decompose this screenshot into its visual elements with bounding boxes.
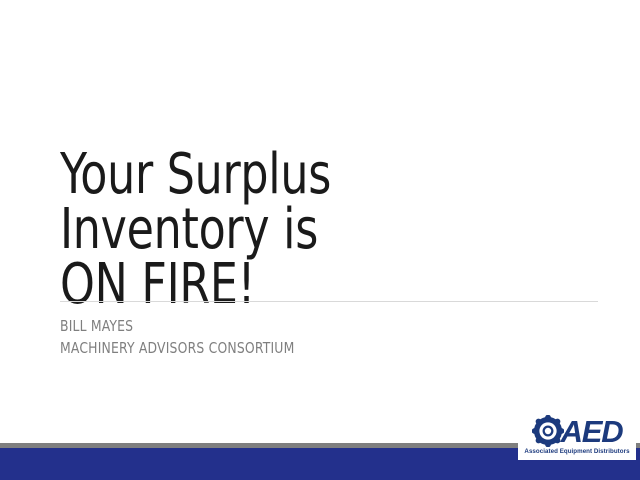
aed-logo-main: AED <box>532 414 623 448</box>
presentation-slide: Your Surplus Inventory is ON FIRE! BILL … <box>0 0 640 480</box>
presenter-organization: MACHINERY ADVISORS CONSORTIUM <box>60 338 294 360</box>
subtitle-block: BILL MAYES MACHINERY ADVISORS CONSORTIUM <box>60 316 315 360</box>
title-divider <box>60 301 598 302</box>
aed-wordmark: AED <box>561 416 623 447</box>
title-block: Your Surplus Inventory is ON FIRE! <box>60 148 605 313</box>
aed-logo: AED Associated Equipment Distributors <box>518 414 636 460</box>
aed-tagline: Associated Equipment Distributors <box>524 449 629 455</box>
presenter-name: BILL MAYES <box>60 316 294 338</box>
gear-icon <box>532 415 564 447</box>
page-title: Your Surplus Inventory is ON FIRE! <box>60 148 540 313</box>
